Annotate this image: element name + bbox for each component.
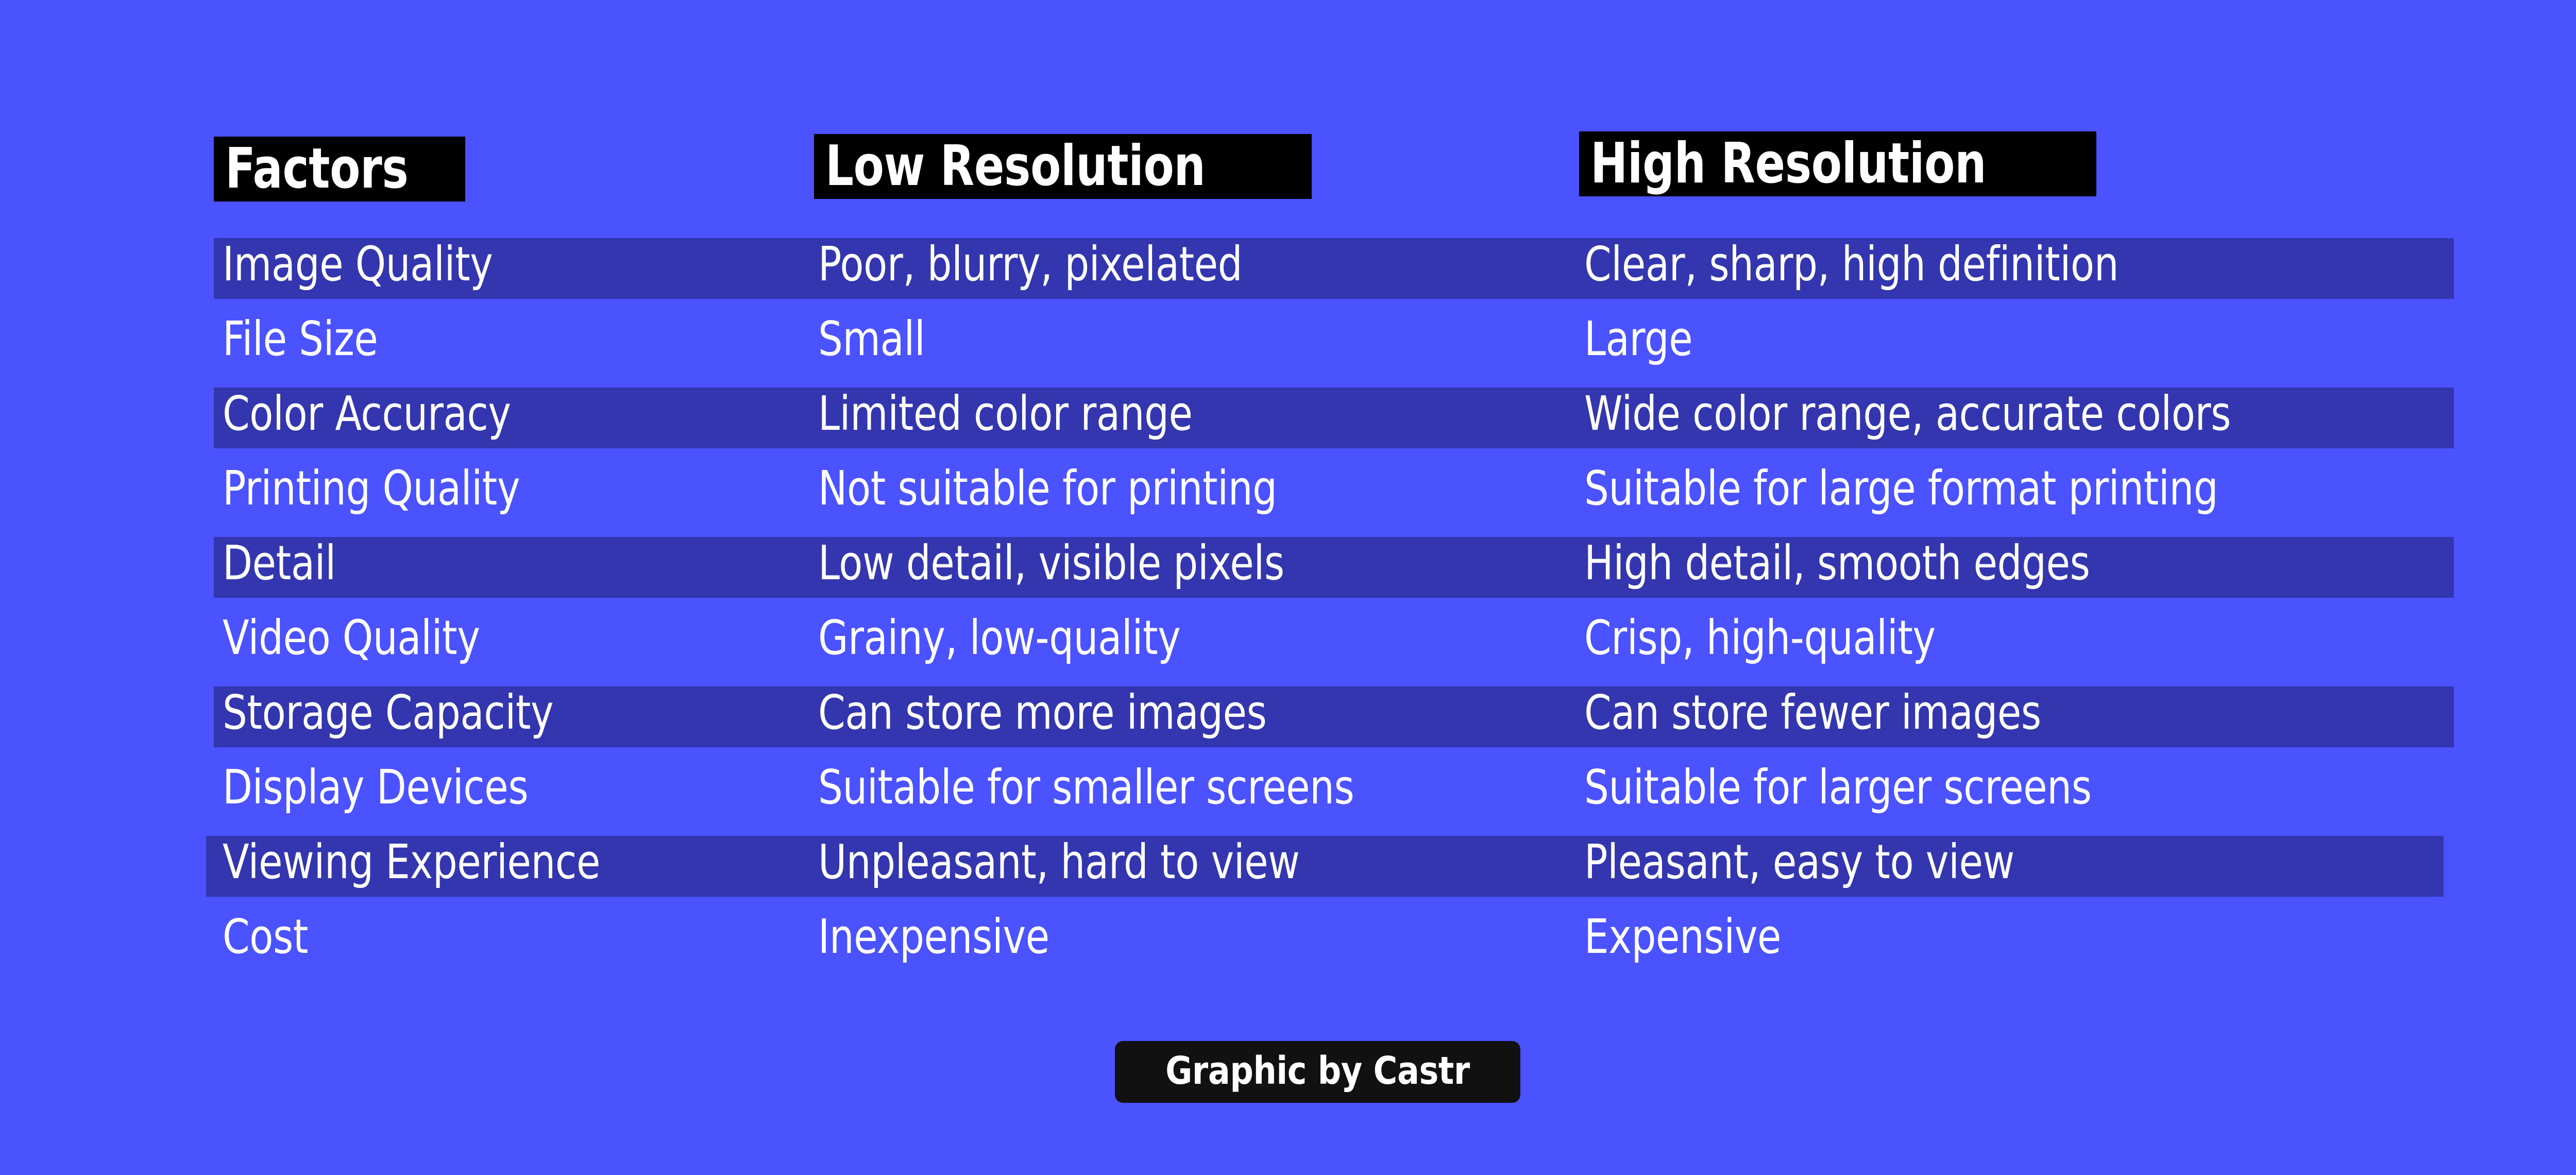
cell-high-resolution: Can store fewer images [1584,675,2142,750]
cell-low-resolution: Not suitable for printing [818,451,1378,526]
cell-factor-label: Detail [223,526,336,600]
cell-low-resolution: Limited color range [818,376,1275,451]
cell-low-resolution: Small [818,301,948,376]
column-header-low-resolution-label: Low Resolution [825,134,1206,199]
footer: Graphic by Castr [0,1041,2576,1103]
column-header-high-resolution: High Resolution [1579,131,2096,196]
cell-low-resolution-label: Limited color range [818,376,1193,451]
table-row: File SizeSmallLarge [0,301,2576,376]
cell-high-resolution-label: Suitable for large format printing [1584,451,2218,526]
cell-low-resolution: Low detail, visible pixels [818,526,1386,600]
cell-factor: Display Devices [223,750,595,825]
cell-low-resolution: Unpleasant, hard to view [818,825,1405,899]
cell-high-resolution: Clear, sharp, high definition [1584,227,2236,301]
cell-high-resolution-label: Pleasant, easy to view [1584,825,2014,899]
cell-high-resolution-label: Expensive [1584,899,1781,974]
table-row: Printing QualityNot suitable for printin… [0,451,2576,526]
cell-high-resolution: Wide color range, accurate colors [1584,376,2372,451]
cell-factor-label: File Size [223,301,378,376]
cell-high-resolution: Pleasant, easy to view [1584,825,2109,899]
cell-factor-label: Display Devices [223,750,528,825]
cell-high-resolution: Large [1584,301,1716,376]
cell-high-resolution: Suitable for larger screens [1584,750,2203,825]
cell-factor: Storage Capacity [223,675,626,750]
cell-low-resolution-label: Low detail, visible pixels [818,526,1284,600]
cell-low-resolution-label: Inexpensive [818,899,1049,974]
cell-low-resolution: Suitable for smaller screens [818,750,1472,825]
cell-high-resolution: Expensive [1584,899,1824,974]
table-row: Storage CapacityCan store more imagesCan… [0,675,2576,750]
cell-low-resolution-label: Grainy, low-quality [818,600,1180,675]
cell-low-resolution-label: Small [818,301,925,376]
credit-badge-label: Graphic by Castr [1165,1050,1470,1092]
cell-factor-label: Video Quality [223,600,480,675]
cell-factor: File Size [223,301,412,376]
table-row: Display DevicesSuitable for smaller scre… [0,750,2576,825]
cell-high-resolution-label: Suitable for larger screens [1584,750,2092,825]
cell-high-resolution-label: Can store fewer images [1584,675,2041,750]
column-header-factors-label: Factors [225,137,408,202]
cell-low-resolution-label: Suitable for smaller screens [818,750,1354,825]
cell-factor-label: Viewing Experience [223,825,600,899]
table-row: CostInexpensiveExpensive [0,899,2576,974]
cell-factor: Viewing Experience [223,825,683,899]
cell-high-resolution: Crisp, high-quality [1584,600,2012,675]
cell-low-resolution-label: Unpleasant, hard to view [818,825,1300,899]
cell-factor: Video Quality [223,600,536,675]
cell-high-resolution-label: High detail, smooth edges [1584,526,2090,600]
table-header-row: Factors Low Resolution High Resolution [0,131,2576,198]
column-header-high-resolution-label: High Resolution [1590,131,1986,196]
cell-low-resolution: Poor, blurry, pixelated [818,227,1335,301]
credit-badge: Graphic by Castr [1115,1041,1520,1103]
column-header-low-resolution: Low Resolution [814,134,1312,199]
cell-high-resolution-label: Large [1584,301,1692,376]
cell-low-resolution: Grainy, low-quality [818,600,1260,675]
column-header-factors: Factors [214,137,465,202]
cell-factor: Color Accuracy [223,376,574,451]
table-row: Image QualityPoor, blurry, pixelatedClea… [0,227,2576,301]
cell-high-resolution-label: Crisp, high-quality [1584,600,1936,675]
cell-factor: Cost [223,899,327,974]
cell-factor-label: Cost [223,899,308,974]
cell-factor: Image Quality [223,227,552,301]
cell-low-resolution: Inexpensive [818,899,1100,974]
cell-factor: Detail [223,526,361,600]
table-row: DetailLow detail, visible pixelsHigh det… [0,526,2576,600]
cell-low-resolution-label: Not suitable for printing [818,451,1277,526]
cell-factor-label: Storage Capacity [223,675,553,750]
cell-low-resolution: Can store more images [818,675,1365,750]
table-row: Viewing ExperienceUnpleasant, hard to vi… [0,825,2576,899]
cell-low-resolution-label: Poor, blurry, pixelated [818,227,1242,301]
table-body: Image QualityPoor, blurry, pixelatedClea… [0,227,2576,974]
cell-factor-label: Printing Quality [223,451,520,526]
cell-high-resolution: Suitable for large format printing [1584,451,2357,526]
cell-factor: Printing Quality [223,451,585,526]
infographic-canvas: Factors Low Resolution High Resolution I… [0,0,2576,1175]
cell-low-resolution-label: Can store more images [818,675,1267,750]
cell-high-resolution-label: Clear, sharp, high definition [1584,227,2119,301]
cell-factor-label: Color Accuracy [223,376,511,451]
table-row: Color AccuracyLimited color rangeWide co… [0,376,2576,451]
cell-high-resolution: High detail, smooth edges [1584,526,2201,600]
cell-factor-label: Image Quality [223,227,493,301]
table-row: Video QualityGrainy, low-qualityCrisp, h… [0,600,2576,675]
cell-high-resolution-label: Wide color range, accurate colors [1584,376,2231,451]
